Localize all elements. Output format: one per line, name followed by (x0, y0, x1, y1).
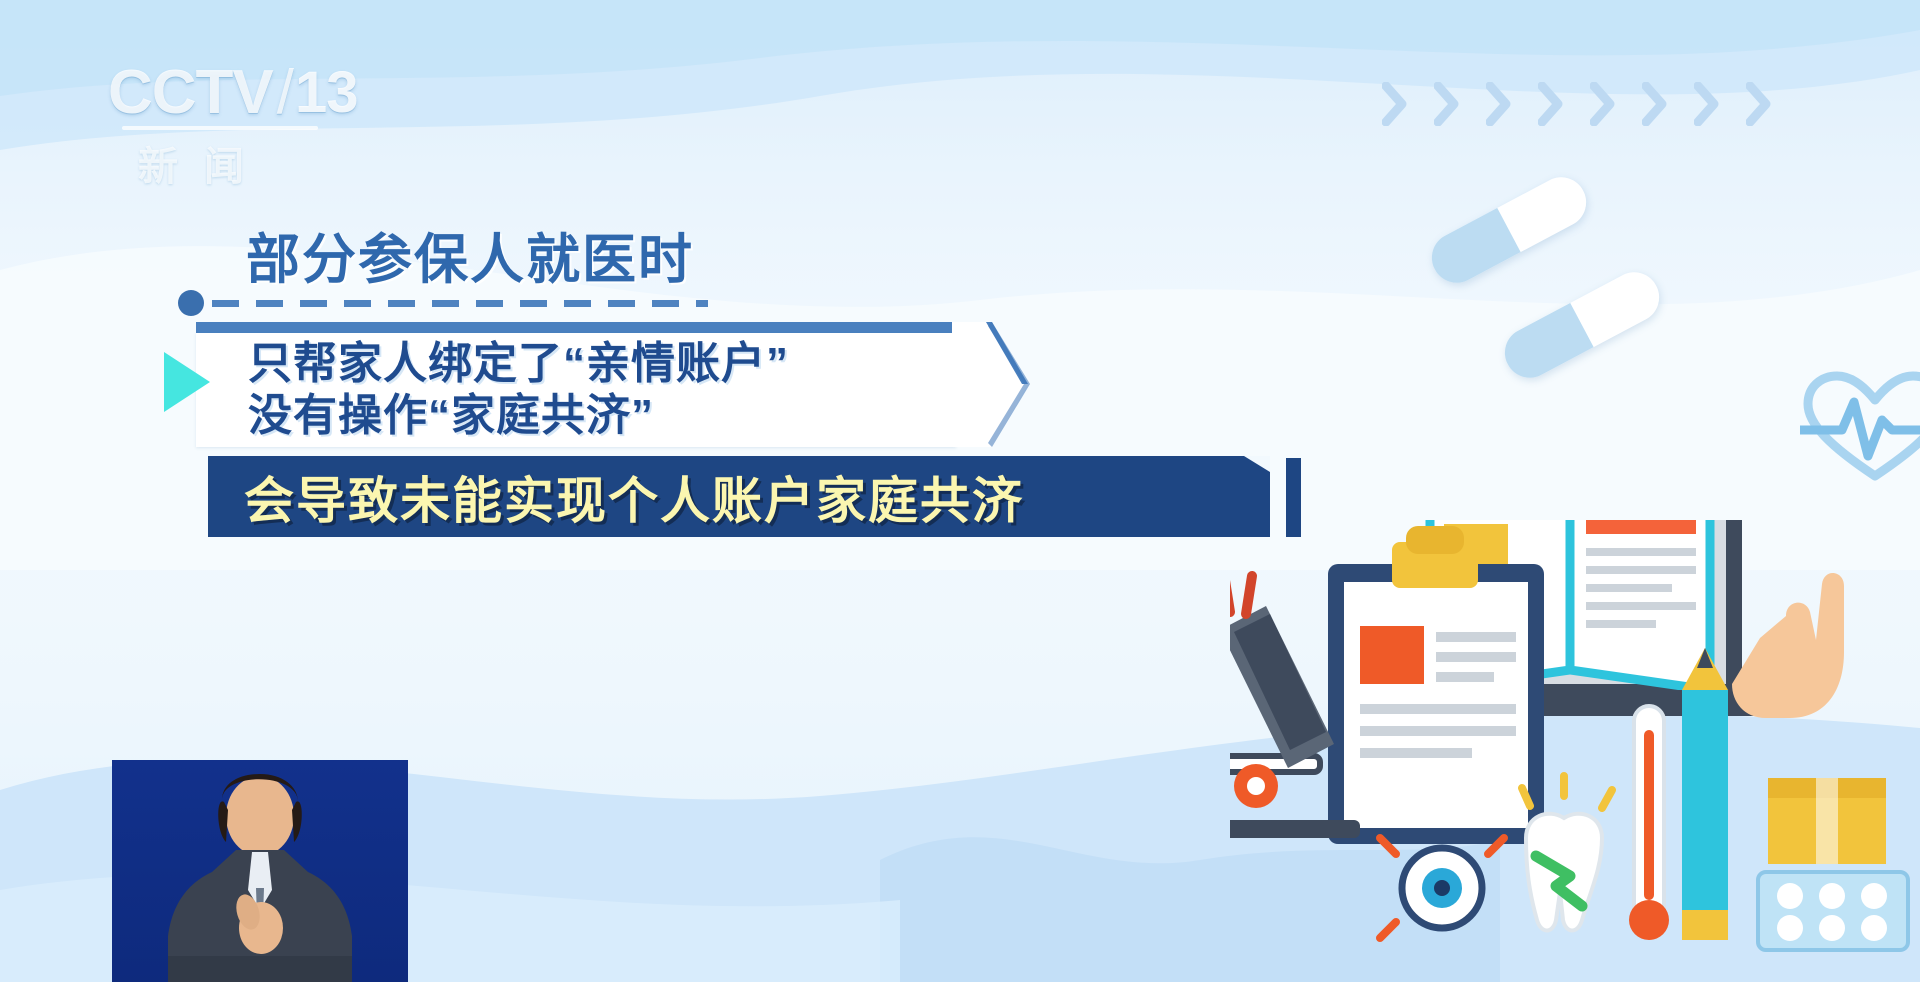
heartbeat-icon (1800, 368, 1920, 488)
subtitle-card-arrow-point (952, 322, 1030, 447)
chevron-right-icon (1434, 82, 1460, 126)
pencil-icon (1682, 648, 1728, 940)
headline-block: 部分参保人就医时 (246, 232, 694, 289)
chevron-right-icon (1538, 82, 1564, 126)
chevron-arrow-row (1382, 82, 1772, 126)
subtitle-card: 只帮家人绑定了“亲情账户” 没有操作“家庭共济” (196, 322, 996, 447)
thermometer-icon (1629, 706, 1669, 940)
cctv-logo-number: 13 (295, 64, 358, 122)
banner-corner-notch (1244, 456, 1270, 472)
subtitle-line-1: 只帮家人绑定了“亲情账户” (248, 338, 789, 390)
play-triangle-icon (164, 352, 210, 412)
pill-tray-icon (1758, 872, 1908, 950)
sign-language-interpreter-box (112, 760, 408, 982)
cctv-logo-slash: / (277, 62, 293, 124)
eye-icon (1380, 838, 1504, 938)
emphasis-banner: 会导致未能实现个人账户家庭共济 (208, 456, 1270, 537)
chevron-right-icon (1746, 82, 1772, 126)
dashed-line (212, 300, 708, 307)
page-title: 部分参保人就医时 (246, 232, 694, 289)
chevron-right-icon (1590, 82, 1616, 126)
chevron-right-icon (1694, 82, 1720, 126)
subtitle-card-topbar (196, 322, 956, 333)
bullet-dot-icon (178, 290, 204, 316)
hand-icon (1732, 573, 1844, 718)
cctv-logo-main: CCTV / 13 (108, 62, 368, 124)
broadcast-frame: CCTV / 13 新闻 部分参保人就医时 (0, 0, 1920, 982)
chevron-right-icon (1382, 82, 1408, 126)
cctv-logo-subtitle: 新闻 (138, 134, 368, 192)
emphasis-banner-text: 会导致未能实现个人账户家庭共济 (244, 461, 1024, 533)
cctv-logo: CCTV / 13 新闻 (108, 62, 368, 182)
book-image-block (1586, 520, 1696, 534)
subtitle-card-lines: 只帮家人绑定了“亲情账户” 没有操作“家庭共济” (248, 338, 789, 442)
chevron-right-icon (1486, 82, 1512, 126)
dashed-divider (178, 292, 708, 314)
medicine-box-icon (1768, 778, 1886, 864)
cctv-logo-text: CCTV (108, 62, 273, 124)
interpreter-figure (112, 760, 408, 982)
subtitle-line-2: 没有操作“家庭共济” (248, 390, 789, 442)
chevron-right-icon (1642, 82, 1668, 126)
medical-illustration (1230, 520, 1920, 982)
